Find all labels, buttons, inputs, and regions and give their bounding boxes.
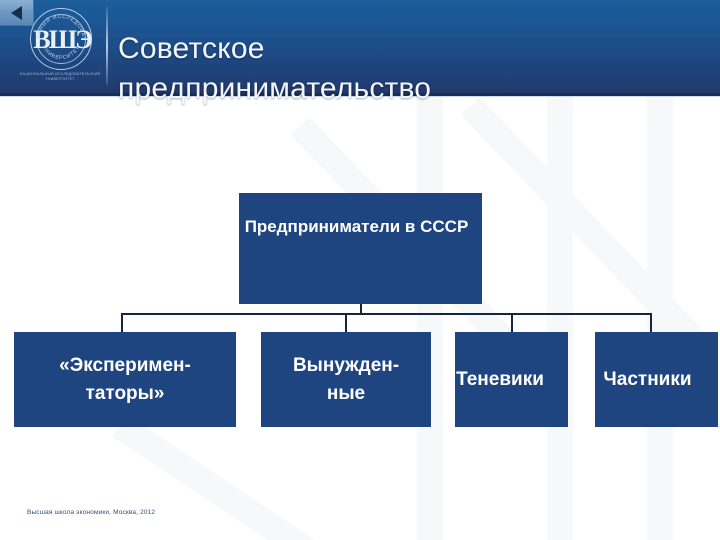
footer-credit: Высшая школа экономики, Москва, 2012: [27, 509, 155, 516]
diagram-node-root-label: Предприниматели в СССР: [231, 215, 482, 238]
connector-drop-1: [121, 313, 123, 332]
diagram-node-root: Предприниматели в СССР: [239, 193, 482, 304]
connector-drop-3: [511, 313, 513, 332]
diagram-node-2-label: Вынужден- ные: [293, 352, 399, 408]
logo-caption: НАЦИОНАЛЬНЫЙ ИССЛЕДОВАТЕЛЬСКИЙ УНИВЕРСИТ…: [14, 72, 106, 82]
connector-drop-2: [345, 313, 347, 332]
logo-ring-text-bottom: УНИВЕРСИТЕТ: [41, 45, 81, 61]
hse-logo: ВШЭ НАЦИОНАЛЬНЫЙ ИССЛЕДОВАТЕЛЬСКИЙ УНИВЕ…: [14, 6, 106, 90]
diagram-node-forced: Вынужден- ные: [261, 332, 431, 427]
background-watermark: [0, 96, 720, 540]
diagram-node-4-label: Частники: [577, 368, 718, 392]
diagram-node-shadow: Теневики: [455, 332, 568, 427]
slide: ВШЭ НАЦИОНАЛЬНЫЙ ИССЛЕДОВАТЕЛЬСКИЙ УНИВЕ…: [0, 0, 720, 540]
diagram-node-private: Частники: [595, 332, 718, 427]
connector-drop-4: [650, 313, 652, 332]
page-title: Советское предпринимательство: [118, 29, 708, 109]
logo-ring-text: НАЦИОНАЛЬНЫЙ ИССЛЕДОВАТЕЛЬСКИЙ УНИВЕРСИТ…: [30, 8, 92, 70]
logo-ring-text-top: НАЦИОНАЛЬНЫЙ ИССЛЕДОВАТЕЛЬСКИЙ: [30, 8, 86, 41]
connector-horizontal-bus: [121, 313, 652, 315]
diagram-node-experimentators: «Эксперимен- таторы»: [14, 332, 236, 427]
diagram-node-3-label: Теневики: [432, 368, 568, 392]
diagram-node-1-label: «Эксперимен- таторы»: [59, 352, 191, 408]
header-divider: [106, 7, 108, 85]
